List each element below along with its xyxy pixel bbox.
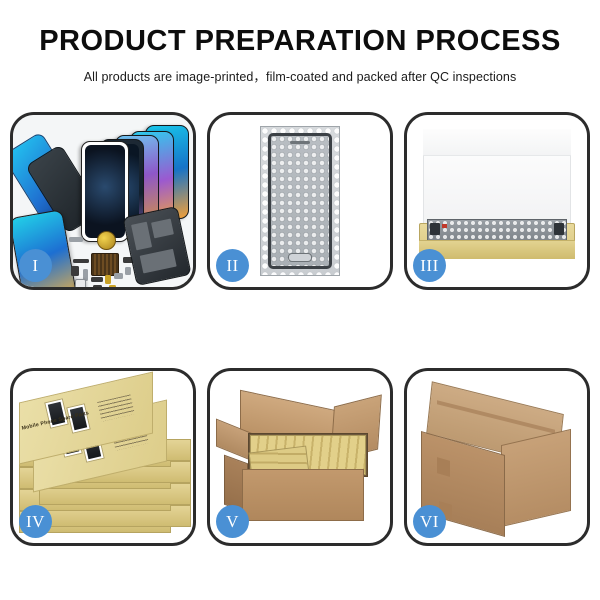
product-preparation-infographic: PRODUCT PREPARATION PROCESS All products… [0,0,600,600]
page-subtitle: All products are image-printed，film-coat… [0,66,600,85]
carton-front-icon [242,469,364,521]
process-step-panel-3: III [404,112,590,290]
step-badge-1: I [19,249,52,282]
process-step-panel-5: V [207,368,393,546]
process-step-panel-6: VI [404,368,590,546]
process-step-panel-2: II [207,112,393,290]
wrapped-screen-in-box-icon [427,219,567,241]
step-badge-5: V [216,505,249,538]
page-title: PRODUCT PREPARATION PROCESS [0,26,600,58]
step-badge-3: III [413,249,446,282]
bubble-wrapped-screen-icon [260,126,340,276]
process-step-panel-4: Mobile Phone Spare Parts Mobile Phone Sp… [10,368,196,546]
step-badge-4: IV [19,505,52,538]
step-badge-6: VI [413,505,446,538]
process-steps-grid: I II [10,112,590,546]
process-step-panel-1: I [10,112,196,290]
sealed-carton-right-icon [501,429,571,527]
step-badge-2: II [216,249,249,282]
header: PRODUCT PREPARATION PROCESS All products… [0,26,600,85]
